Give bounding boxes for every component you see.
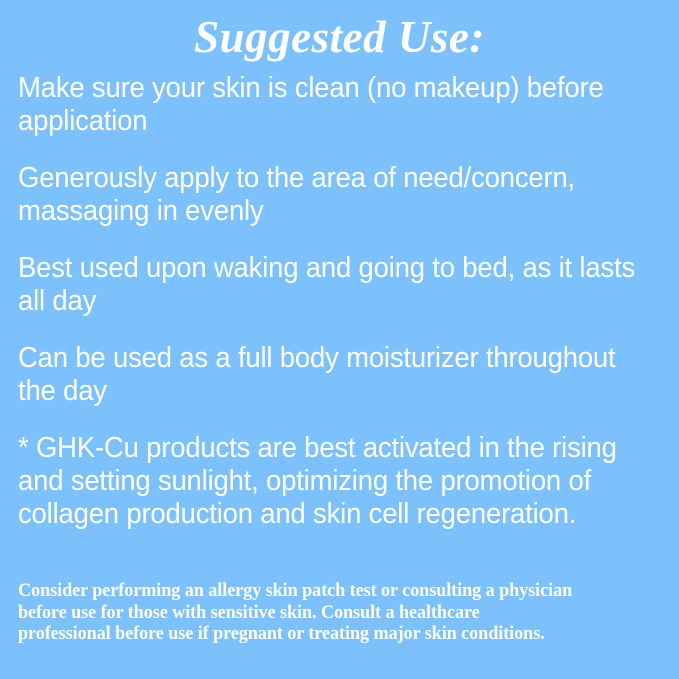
instruction-item: Make sure your skin is clean (no makeup)…	[18, 72, 645, 138]
disclaimer-line: Consider performing an allergy skin patc…	[18, 581, 663, 603]
instruction-item: Best used upon waking and going to bed, …	[18, 252, 645, 318]
suggested-use-panel: Suggested Use: Make sure your skin is cl…	[0, 0, 679, 679]
disclaimer-line: before use for those with sensitive skin…	[18, 603, 663, 625]
page-title: Suggested Use:	[0, 9, 679, 65]
disclaimer-text: Consider performing an allergy skin patc…	[18, 581, 663, 646]
disclaimer-line: professional before use if pregnant or t…	[18, 624, 663, 646]
instructions-list: Make sure your skin is clean (no makeup)…	[18, 72, 668, 531]
instruction-note: * GHK-Cu products are best activated in …	[18, 432, 645, 531]
instruction-item: Can be used as a full body moisturizer t…	[18, 342, 645, 408]
instruction-item: Generously apply to the area of need/con…	[18, 162, 645, 228]
